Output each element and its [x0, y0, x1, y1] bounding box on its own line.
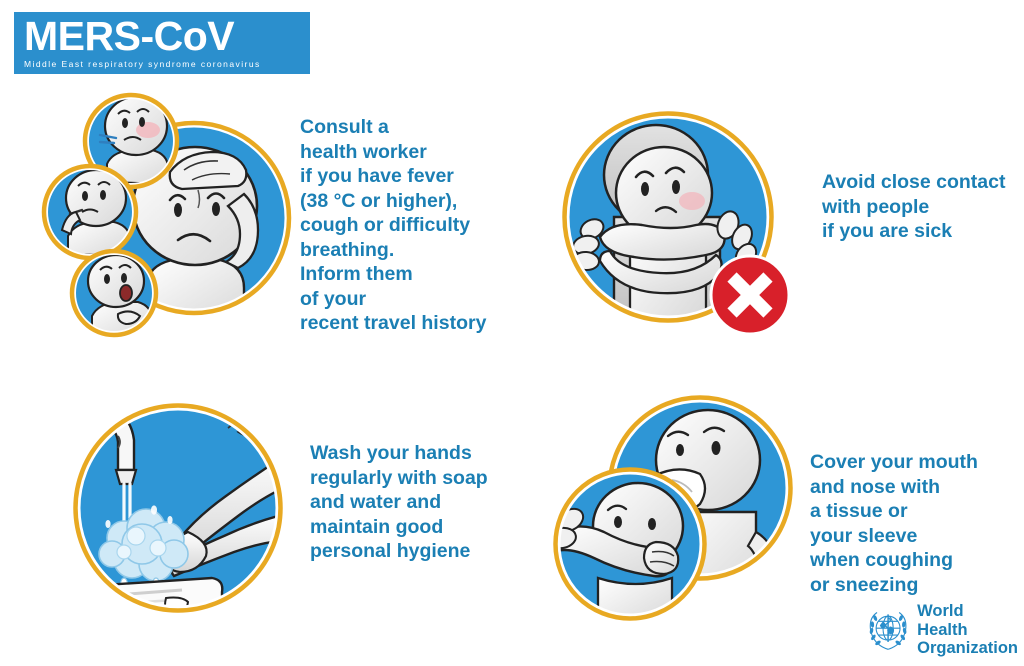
caption-cover-mouth-and-nose: Cover your mouth and nose with a tissue … [810, 450, 1010, 597]
illustration-person-with-fever [52, 90, 302, 345]
caption-wash-your-hands: Wash your hands regularly with soap and … [310, 441, 525, 564]
caption-avoid-close-contact: Avoid close contact with people if you a… [822, 170, 1024, 244]
illustration-two-people-hugging [556, 105, 796, 345]
page-title: MERS-CoV [24, 14, 300, 58]
caption-consult-health-worker: Consult a health worker if you have feve… [300, 115, 530, 336]
who-logo: World Health Organization [866, 604, 1018, 656]
illustration-cover-mouth-and-nose [560, 392, 804, 628]
who-logo-text: World Health Organization [917, 602, 1018, 658]
who-emblem-icon [866, 606, 910, 654]
illustration-hands-washing [62, 392, 294, 624]
title-banner: MERS-CoV Middle East respiratory syndrom… [14, 12, 310, 74]
prohibition-x-badge [711, 256, 789, 334]
page-subtitle: Middle East respiratory syndrome coronav… [24, 58, 300, 70]
